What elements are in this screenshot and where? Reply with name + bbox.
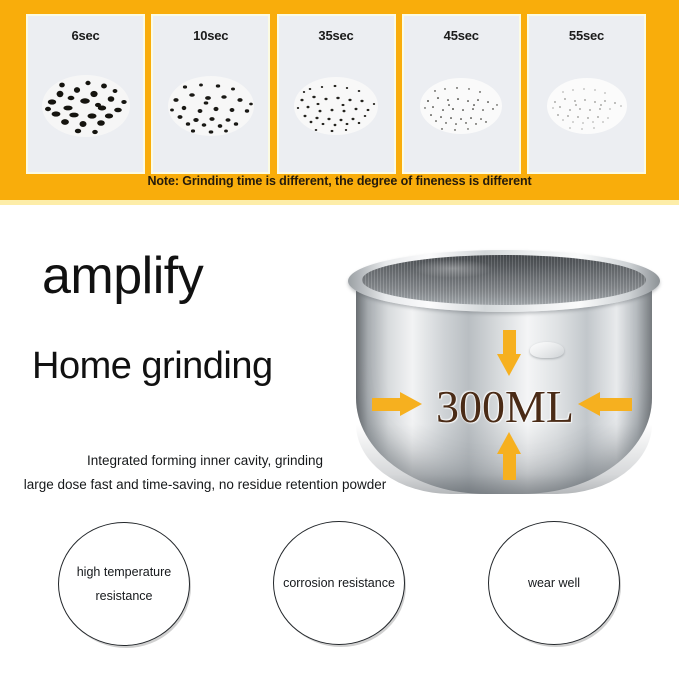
powder-pile-icon <box>38 64 134 142</box>
powder-pile-icon <box>288 64 384 142</box>
feature-circle-high-temperature-resistance: high temperature resistance <box>58 522 190 646</box>
grind-comparison-banner: 6sec <box>0 0 679 200</box>
cavity-highlight <box>413 259 493 278</box>
sample-photo: 35sec <box>279 16 394 172</box>
sample-panel-strip: 6sec <box>26 14 646 174</box>
sample-photo: 10sec <box>153 16 268 172</box>
feature-label-line-1: corrosion resistance <box>283 571 395 595</box>
feature-label-line-1: high temperature <box>77 560 172 584</box>
banner-underline <box>0 200 679 205</box>
powder-pile-icon <box>413 64 509 142</box>
sample-panel: 35sec <box>277 14 396 174</box>
page-title: amplify <box>42 250 203 302</box>
powder-pile-icon <box>539 64 635 142</box>
sample-label: 45sec <box>404 28 519 43</box>
bowl-spout <box>530 342 564 358</box>
powder-pile-icon <box>163 64 259 142</box>
sample-label: 10sec <box>153 28 268 43</box>
sample-photo: 6sec <box>28 16 143 172</box>
sample-panel: 45sec <box>402 14 521 174</box>
feature-label-line-1: wear well <box>528 571 580 595</box>
sample-label: 35sec <box>279 28 394 43</box>
product-marketing-image: 6sec <box>0 0 679 679</box>
sample-photo: 45sec <box>404 16 519 172</box>
page-subtitle: Home grinding <box>32 347 273 385</box>
cavity-brush-texture <box>362 255 646 305</box>
sample-label: 6sec <box>28 28 143 43</box>
grinding-note: Note: Grinding time is different, the de… <box>0 174 679 188</box>
feature-circle-wear-well: wear well <box>488 521 620 645</box>
sample-photo: 55sec <box>529 16 644 172</box>
stainless-steel-bowl: 300ML <box>348 246 662 501</box>
feature-label-line-2: resistance <box>77 584 172 608</box>
sample-panel: 6sec <box>26 14 145 174</box>
capacity-label: 300ML <box>348 380 662 433</box>
bowl-inner-cavity <box>362 255 646 305</box>
feature-label: corrosion resistance <box>277 571 401 595</box>
sample-panel: 10sec <box>151 14 270 174</box>
sample-panel: 55sec <box>527 14 646 174</box>
feature-label: wear well <box>522 571 586 595</box>
feature-label: high temperature resistance <box>71 560 178 609</box>
feature-circle-corrosion-resistance: corrosion resistance <box>273 521 405 645</box>
sample-label: 55sec <box>529 28 644 43</box>
